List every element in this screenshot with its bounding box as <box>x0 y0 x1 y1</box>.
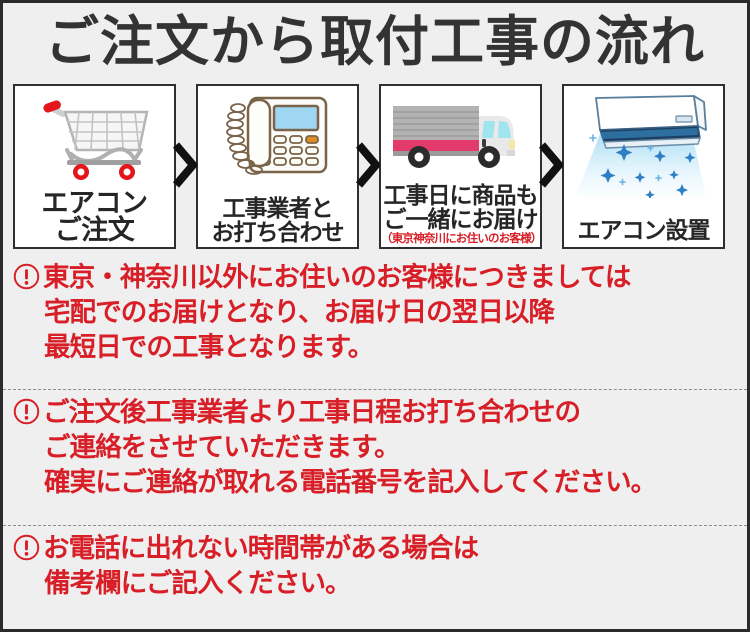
flow-step-delivery-caption: 工事日に商品も ご一緒にお届け （東京神奈川にお住いのお客様） <box>381 185 540 245</box>
notice-text: ご注文後工事業者より工事日程お打ち合わせの <box>43 397 580 428</box>
infographic-root: ご注文から取付工事の流れ <box>0 0 750 632</box>
notice-text: 東京・神奈川以外にお住いのお客様につきましては <box>43 262 630 293</box>
notices-list: 東京・神奈川以外にお住いのお客様につきましては 宅配でのお届けとなり、お届け日の… <box>3 255 747 629</box>
notice-line: 東京・神奈川以外にお住いのお客様につきましては <box>13 261 741 296</box>
caption-line-2: ご注文 <box>15 217 174 245</box>
notice-item: 東京・神奈川以外にお住いのお客様につきましては 宅配でのお届けとなり、お届け日の… <box>3 255 747 389</box>
flow-step-installation-caption: エアコン設置 <box>564 220 723 243</box>
page-title: ご注文から取付工事の流れ <box>45 15 705 69</box>
notice-line: ご注文後工事業者より工事日程お打ち合わせの <box>13 396 741 431</box>
caption-line-1: エアコン <box>15 190 174 218</box>
flow-step-installation: エアコン設置 <box>562 84 725 249</box>
notice-text: お電話に出れない時間帯がある場合は <box>43 533 478 564</box>
caption-line-2: ご一緒にお届け <box>381 209 540 232</box>
flow-step-order-caption: エアコン ご注文 <box>15 190 174 245</box>
shopping-cart-icon <box>15 88 174 180</box>
caption-line-1: 工事業者と <box>198 198 357 221</box>
flow-step-consultation-caption: 工事業者と お打ち合わせ <box>198 198 357 245</box>
chevron-right-icon <box>537 142 563 188</box>
notice-line: 備考欄にご記入ください。 <box>13 567 741 602</box>
caption-line-1: エアコン設置 <box>564 220 723 243</box>
delivery-truck-icon <box>381 88 540 180</box>
flow-step-order: エアコン ご注文 <box>13 84 176 249</box>
notice-item: ご注文後工事業者より工事日程お打ち合わせの ご連絡をさせていただきます。 確実に… <box>3 389 747 525</box>
chevron-right-icon <box>171 142 197 188</box>
flow-step-consultation: 工事業者と お打ち合わせ <box>196 84 359 249</box>
exclamation-circle-icon <box>13 398 40 425</box>
caption-line-2: お打ち合わせ <box>198 222 357 245</box>
process-flow: エアコン ご注文 <box>10 84 740 252</box>
flow-step-delivery-note: （東京神奈川にお住いのお客様） <box>381 233 540 245</box>
notice-item: お電話に出れない時間帯がある場合は 備考欄にご記入ください。 <box>3 525 747 629</box>
telephone-icon <box>198 88 357 180</box>
caption-line-1: 工事日に商品も <box>381 185 540 208</box>
exclamation-circle-icon <box>13 534 40 561</box>
notice-line: お電話に出れない時間帯がある場合は <box>13 532 741 567</box>
notice-line: 宅配でのお届けとなり、お届け日の翌日以降 <box>13 296 741 331</box>
notice-line: 確実にご連絡が取れる電話番号を記入してください。 <box>13 466 741 501</box>
chevron-right-icon <box>354 142 380 188</box>
air-conditioner-icon <box>564 86 723 198</box>
notice-line: 最短日での工事となります。 <box>13 331 741 366</box>
flow-step-delivery: 工事日に商品も ご一緒にお届け （東京神奈川にお住いのお客様） <box>379 84 542 249</box>
exclamation-circle-icon <box>13 263 40 290</box>
notice-line: ご連絡をさせていただきます。 <box>13 431 741 466</box>
page-title-bar: ご注文から取付工事の流れ <box>3 3 747 81</box>
